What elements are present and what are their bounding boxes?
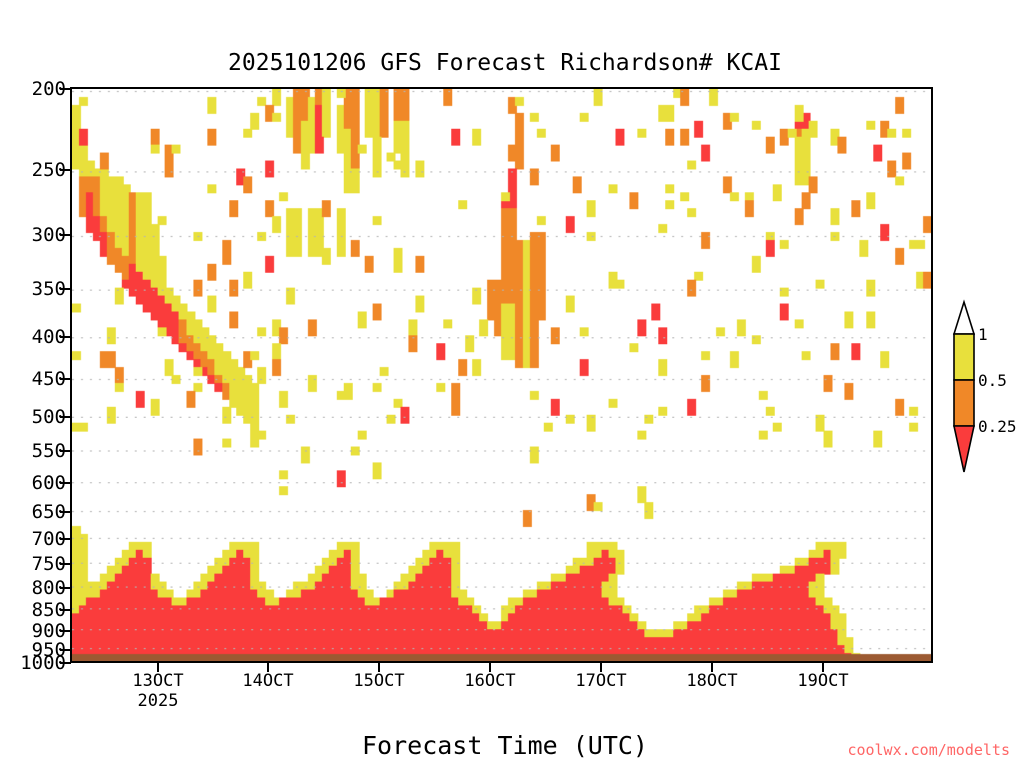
x-tick-mark-19OCT: [822, 663, 824, 672]
colorbar-band-orange: [954, 380, 974, 426]
page-title: 2025101206 GFS Forecast Richardson# KCAI: [0, 50, 1010, 76]
x-tick-label-14OCT: 14OCT: [242, 672, 293, 692]
x-tick-label-19OCT: 19OCT: [797, 672, 848, 692]
x-tick-label-18OCT: 18OCT: [686, 672, 737, 692]
x-tick-mark-18OCT: [711, 663, 713, 672]
colorbar[interactable]: 1 0.5 0.25: [940, 296, 1024, 480]
chart-root: 2025101206 GFS Forecast Richardson# KCAI…: [0, 0, 1024, 768]
credit-watermark: coolwx.com/modelts: [847, 741, 1010, 759]
colorbar-band-yellow: [954, 334, 974, 380]
plot-area[interactable]: [70, 87, 933, 663]
colorbar-label-0_5: 0.5: [978, 373, 1007, 389]
x-tick-label-13OCT: 13OCT2025: [132, 672, 183, 711]
x-tick-mark-16OCT: [489, 663, 491, 672]
heatmap-canvas[interactable]: [72, 89, 931, 661]
x-tick-label-16OCT: 16OCT: [464, 672, 515, 692]
x-tick-label-17OCT: 17OCT: [575, 672, 626, 692]
colorbar-label-1: 1: [978, 327, 988, 343]
x-tick-mark-14OCT: [267, 663, 269, 672]
x-axis-year-label: 2025: [132, 692, 183, 712]
colorbar-label-0_25: 0.25: [978, 419, 1017, 435]
x-tick-mark-13OCT: [157, 663, 159, 672]
x-tick-mark-17OCT: [600, 663, 602, 672]
x-tick-label-15OCT: 15OCT: [353, 672, 404, 692]
colorbar-under-arrow: [954, 426, 974, 472]
x-tick-mark-15OCT: [378, 663, 380, 672]
colorbar-over-arrow: [954, 302, 974, 334]
